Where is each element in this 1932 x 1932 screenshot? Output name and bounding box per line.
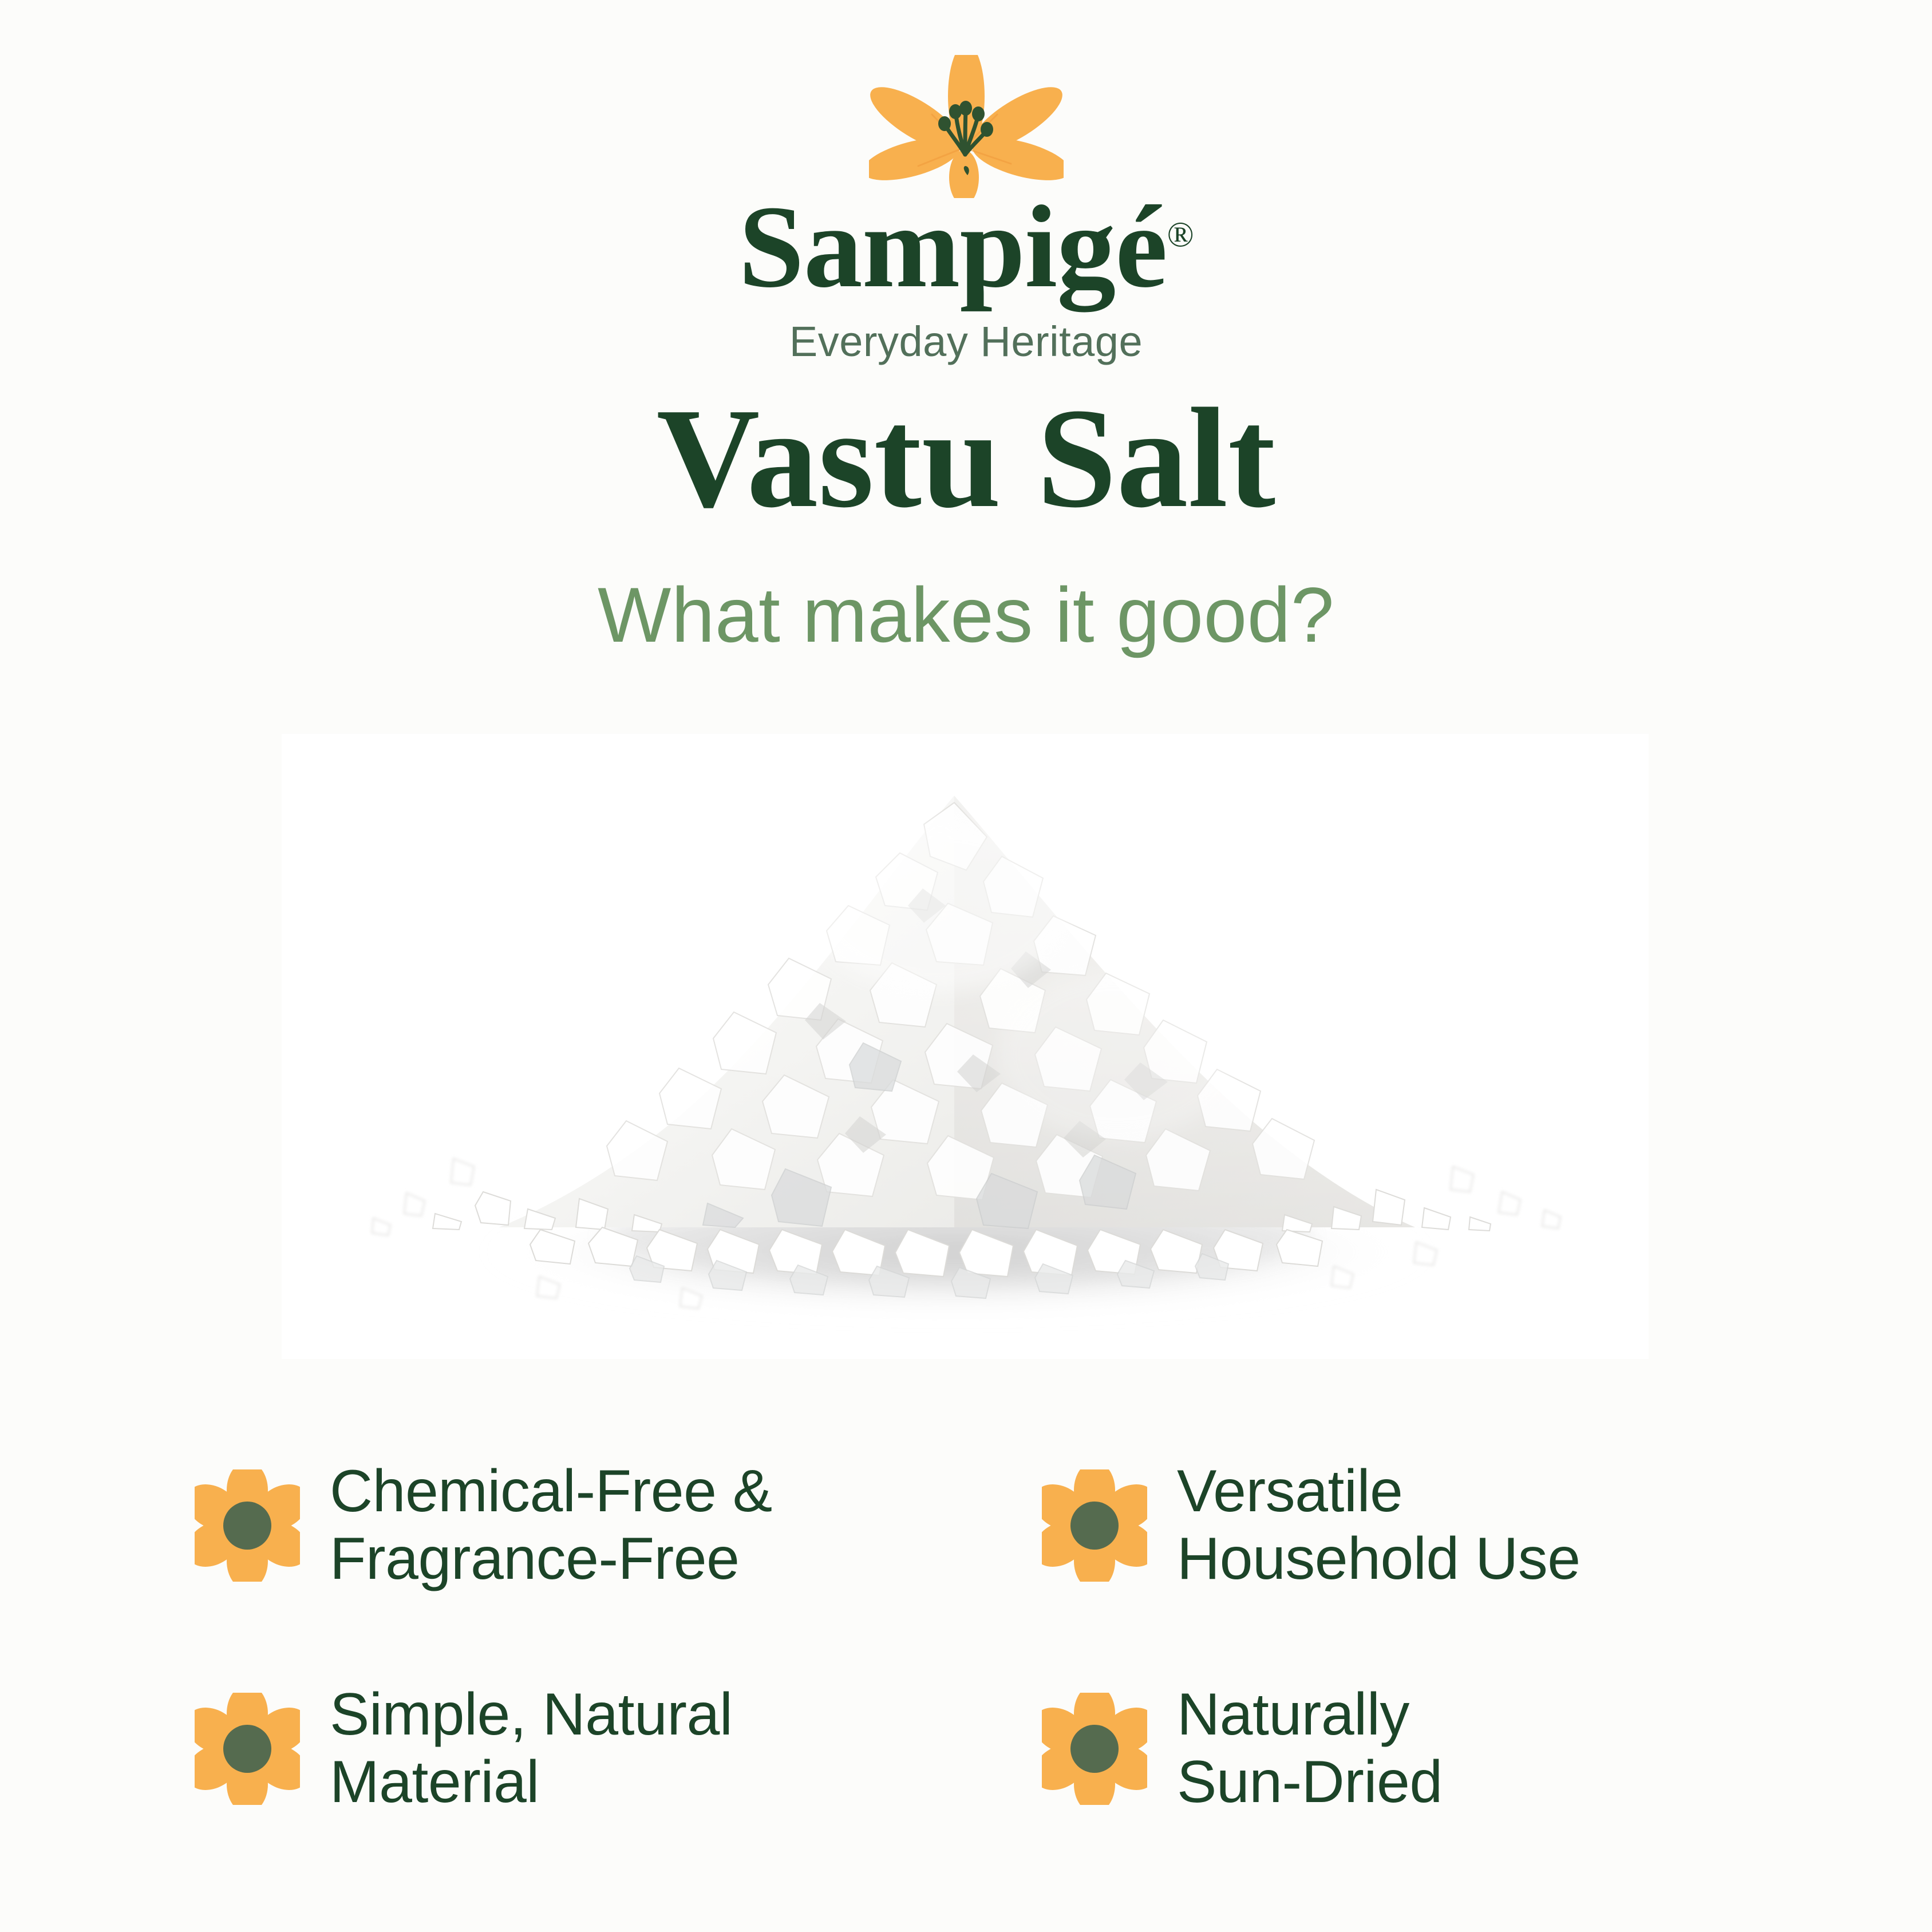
flower-bullet-icon — [195, 1469, 300, 1582]
benefits-grid: Chemical-Free & Fragrance-Free Versatile… — [195, 1414, 1878, 1860]
flower-bullet-icon — [1042, 1469, 1147, 1582]
product-feature-poster: Sampigé® Everyday Heritage Vastu Salt Wh… — [0, 0, 1932, 1932]
salt-pile-illustration — [282, 734, 1649, 1359]
saffron-flower-logo-icon — [869, 55, 1064, 198]
brand-logo-block: Sampigé® Everyday Heritage — [0, 55, 1932, 366]
flower-center — [1070, 1725, 1119, 1773]
benefit-item-versatile-use: Versatile Household Use — [1042, 1414, 1878, 1637]
flower-center — [223, 1502, 271, 1550]
benefit-item-natural-material: Simple, Natural Material — [195, 1637, 1042, 1860]
flower-center — [223, 1725, 271, 1773]
brand-name-text: Sampigé — [738, 181, 1167, 312]
flower-center — [1070, 1502, 1119, 1550]
benefit-label: Naturally Sun-Dried — [1177, 1681, 1443, 1816]
benefit-item-chemical-free: Chemical-Free & Fragrance-Free — [195, 1414, 1042, 1637]
benefit-label: Versatile Household Use — [1177, 1458, 1581, 1593]
page-subtitle: What makes it good? — [0, 572, 1932, 658]
hero-image-panel — [282, 734, 1649, 1359]
benefit-label: Simple, Natural Material — [330, 1681, 732, 1816]
brand-tagline: Everyday Heritage — [789, 317, 1143, 366]
benefit-item-sun-dried: Naturally Sun-Dried — [1042, 1637, 1878, 1860]
registered-trademark-symbol: ® — [1167, 215, 1194, 254]
flower-bullet-icon — [195, 1693, 300, 1805]
salt-pile-image — [282, 734, 1649, 1359]
flower-bullet-icon — [1042, 1693, 1147, 1805]
brand-name: Sampigé® — [738, 189, 1194, 305]
benefit-label: Chemical-Free & Fragrance-Free — [330, 1458, 772, 1593]
page-title: Vastu Salt — [0, 382, 1932, 534]
